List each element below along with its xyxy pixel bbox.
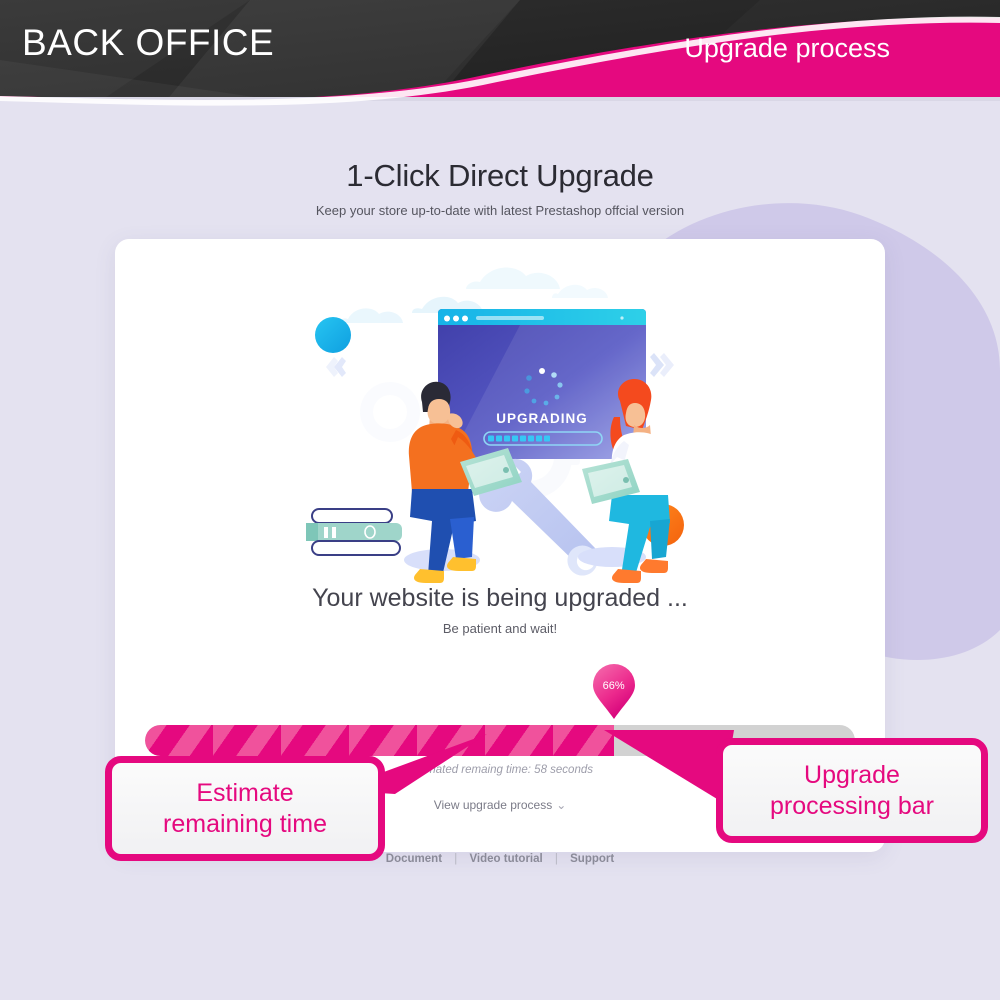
annotation-eta-line1: Estimate xyxy=(196,779,293,807)
upgrade-illustration: UPGRADING xyxy=(115,257,885,587)
annotation-bar-line2: processing bar xyxy=(770,792,934,820)
gear-decoration-2 xyxy=(360,382,420,442)
progress-percent-label: 66% xyxy=(592,680,636,692)
footer-link-support[interactable]: Support xyxy=(570,853,614,865)
page-title-header: Upgrade process xyxy=(684,33,890,64)
footer-link-video-tutorial[interactable]: Video tutorial xyxy=(469,853,542,865)
status-block: Your website is being upgraded ... Be pa… xyxy=(115,584,885,636)
screenshot-root: BACK OFFICE Upgrade process 1-Click Dire… xyxy=(0,0,1000,1000)
footer-separator: | xyxy=(454,853,457,865)
footer-link-document[interactable]: Document xyxy=(386,853,442,865)
annotation-estimate-remaining-time: Estimate remaining time xyxy=(105,756,385,861)
page-subtitle: Keep your store up-to-date with latest P… xyxy=(0,203,1000,218)
chevron-accent-left xyxy=(326,357,346,377)
annotation-upgrade-processing-bar: Upgrade processing bar xyxy=(716,738,988,843)
chevron-accent-right xyxy=(650,353,674,377)
footer-separator-2: | xyxy=(555,853,558,865)
cyan-ball-decoration xyxy=(315,317,351,353)
status-subline: Be patient and wait! xyxy=(115,621,885,636)
page-heading-block: 1-Click Direct Upgrade Keep your store u… xyxy=(0,158,1000,218)
brand-title: BACK OFFICE xyxy=(22,22,274,64)
books-stack-illustration xyxy=(306,509,402,555)
annotation-eta-line2: remaining time xyxy=(163,810,327,838)
app-header-banner: BACK OFFICE Upgrade process xyxy=(0,0,1000,108)
annotation-box-eta: Estimate remaining time xyxy=(105,756,385,861)
page-title: 1-Click Direct Upgrade xyxy=(0,158,1000,194)
upgrading-screen-label: UPGRADING xyxy=(496,411,588,426)
annotation-box-bar: Upgrade processing bar xyxy=(716,738,988,843)
progress-percent-pin: 66% xyxy=(592,664,636,720)
view-upgrade-process-label: View upgrade process xyxy=(434,798,553,812)
annotation-bar-line1: Upgrade xyxy=(804,761,900,789)
chevron-double-down-icon: ⌄ xyxy=(556,798,566,812)
status-headline: Your website is being upgraded ... xyxy=(115,584,885,613)
